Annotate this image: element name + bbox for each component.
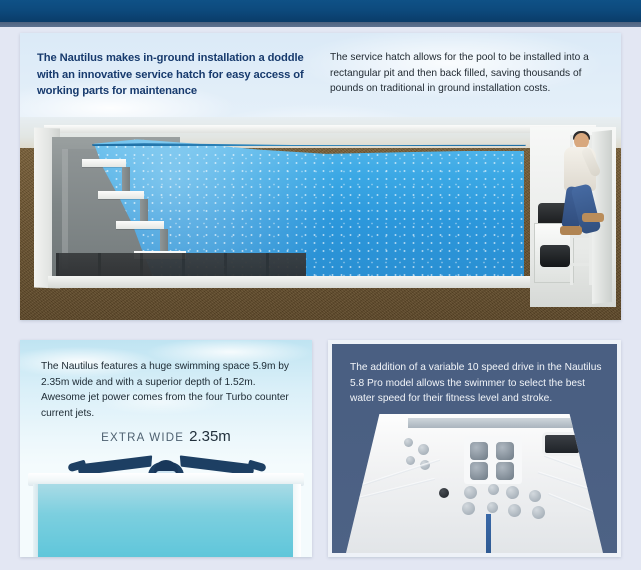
spa-jet-square	[470, 442, 488, 460]
spa-jet	[418, 444, 429, 455]
top-panel-body: The service hatch allows for the pool to…	[330, 50, 615, 97]
spa-blue-stripe	[486, 514, 491, 553]
spa-jet	[462, 502, 475, 515]
spa-jet	[406, 456, 415, 465]
header-shadow-strip	[0, 22, 641, 27]
spa-jet	[532, 506, 545, 519]
pool-floor	[48, 276, 596, 288]
spa-shell	[346, 414, 603, 553]
site-header-bar	[0, 0, 641, 22]
pool-step	[116, 221, 164, 229]
spa-headrest	[542, 432, 582, 456]
spa-jet	[487, 502, 498, 513]
spa-control-cluster	[464, 436, 522, 484]
spa-jet	[488, 484, 499, 495]
pool-step	[98, 191, 144, 199]
spa-jet	[508, 504, 521, 517]
pool-step	[82, 159, 126, 167]
bottom-right-body: The addition of a variable 10 speed driv…	[350, 360, 606, 407]
service-hatch	[530, 127, 616, 307]
spa-seat-contour	[353, 478, 435, 500]
spa-jet	[464, 486, 477, 499]
pool-step-riser	[122, 167, 130, 193]
bottom-right-textbox: The addition of a variable 10 speed driv…	[332, 344, 617, 410]
cutaway-pool-illustration	[20, 117, 621, 320]
pool-step-riser	[140, 199, 148, 223]
technician-figure	[552, 129, 612, 289]
top-panel-heading: The Nautilus makes in-ground installatio…	[37, 50, 327, 100]
spa-seat-contour	[548, 493, 614, 521]
pool-wall-right	[293, 484, 301, 557]
swim-spa-photo	[332, 410, 617, 553]
spa-drain	[439, 488, 449, 498]
spa-jet	[506, 486, 519, 499]
spa-jet-square	[470, 462, 488, 480]
pool-step-riser	[160, 229, 168, 253]
bottom-left-panel: The Nautilus features a huge swimming sp…	[20, 340, 312, 557]
spa-jet-square	[496, 462, 514, 480]
pool-top-lip	[44, 125, 596, 133]
figure-shoe	[560, 226, 582, 235]
water-surface-line	[92, 143, 526, 146]
pool-shell	[34, 123, 594, 299]
brochure-page: The Nautilus makes in-ground installatio…	[0, 0, 641, 570]
spa-jet	[404, 438, 413, 447]
bottom-right-panel: The addition of a variable 10 speed driv…	[328, 340, 621, 557]
bottom-left-body: The Nautilus features a huge swimming sp…	[41, 359, 297, 421]
top-feature-panel: The Nautilus makes in-ground installatio…	[20, 33, 621, 320]
spa-jet	[529, 490, 541, 502]
spa-seat-contour	[358, 459, 440, 487]
spa-jet-square	[496, 442, 514, 460]
top-panel-text-row: The Nautilus makes in-ground installatio…	[20, 33, 621, 117]
spa-top-deck	[408, 418, 578, 428]
pool-water-front	[38, 484, 294, 557]
swimmer-width-diagram	[20, 442, 312, 557]
figure-shoe	[582, 213, 604, 222]
